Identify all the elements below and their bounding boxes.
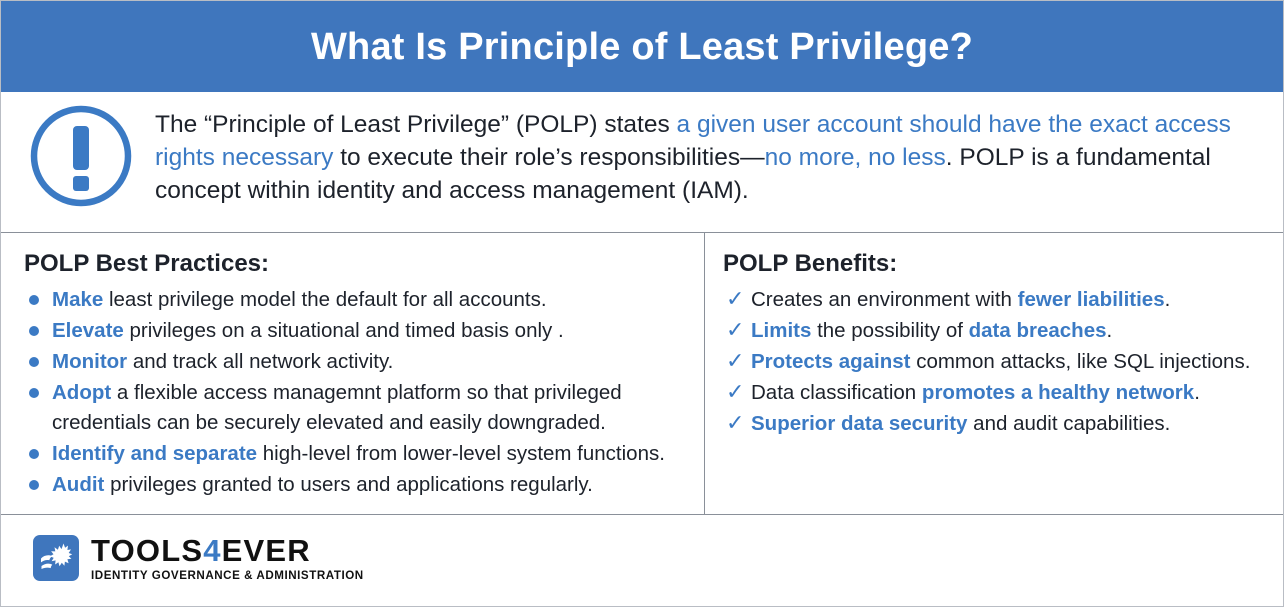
- list-item-highlight: Limits: [751, 319, 811, 342]
- benefits-list: ✓ Creates an environment with fewer liab…: [723, 285, 1265, 439]
- list-item-rest: privileges on a situational and timed ba…: [124, 319, 564, 342]
- list-item: ✓ Data classification promotes a healthy…: [723, 378, 1265, 408]
- list-item: ✓ Limits the possibility of data breache…: [723, 316, 1265, 346]
- benefits-column: POLP Benefits: ✓ Creates an environment …: [705, 233, 1283, 440]
- list-item-rest: a flexible access managemnt platform so …: [52, 381, 622, 434]
- check-icon: ✓: [726, 346, 744, 376]
- list-item-post-2: .: [1107, 319, 1113, 342]
- list-item-highlight: Protects against: [751, 350, 911, 373]
- bullet-dot-icon: [29, 388, 39, 398]
- logo-tagline: IDENTITY GOVERNANCE & ADMINISTRATION: [91, 570, 364, 582]
- list-item: Monitor and track all network activity.: [24, 347, 684, 377]
- list-item-highlight: Superior data security: [751, 412, 967, 435]
- list-item: Identify and separate high-level from lo…: [24, 439, 684, 469]
- infographic-page: What Is Principle of Least Privilege? Th…: [0, 0, 1284, 607]
- logo-wordmark: TOOLS4EVER: [91, 535, 364, 566]
- logo-word-part1: TOOLS: [91, 533, 203, 568]
- list-item: Adopt a flexible access managemnt platfo…: [24, 378, 684, 438]
- intro-segment-4: no more, no less: [765, 144, 946, 171]
- list-item: ✓ Superior data security and audit capab…: [723, 409, 1265, 439]
- best-practices-column: POLP Best Practices: Make least privileg…: [1, 233, 704, 501]
- bullet-dot-icon: [29, 449, 39, 459]
- list-item-rest: least privilege model the default for al…: [103, 288, 546, 311]
- tools4ever-logo[interactable]: TOOLS4EVER IDENTITY GOVERNANCE & ADMINIS…: [33, 535, 364, 582]
- list-item-post: the possibility of: [811, 319, 968, 342]
- list-item: ✓ Protects against common attacks, like …: [723, 347, 1265, 377]
- tools4ever-gear-logo-icon: [33, 535, 79, 581]
- list-item-post: and audit capabilities.: [967, 412, 1170, 435]
- logo-word-four: 4: [203, 533, 221, 568]
- best-practices-title: POLP Best Practices:: [24, 250, 684, 279]
- intro-segment-1: The “Principle of Least Privilege” (POLP…: [155, 111, 677, 138]
- list-item: ✓ Creates an environment with fewer liab…: [723, 285, 1265, 315]
- list-item-lead: Monitor: [52, 350, 127, 373]
- list-item-lead: Identify and separate: [52, 442, 257, 465]
- list-item-post: .: [1165, 288, 1171, 311]
- list-item-post: .: [1194, 381, 1200, 404]
- check-icon: ✓: [726, 377, 744, 407]
- exclamation-circle-icon: [29, 104, 133, 213]
- check-icon: ✓: [726, 284, 744, 314]
- footer-section: TOOLS4EVER IDENTITY GOVERNANCE & ADMINIS…: [1, 515, 1283, 607]
- bullet-dot-icon: [29, 326, 39, 336]
- logo-text-block: TOOLS4EVER IDENTITY GOVERNANCE & ADMINIS…: [91, 535, 364, 582]
- header-banner: What Is Principle of Least Privilege?: [1, 1, 1283, 92]
- list-item-rest: and track all network activity.: [127, 350, 393, 373]
- list-item-rest: high-level from lower-level system funct…: [257, 442, 665, 465]
- bullet-dot-icon: [29, 357, 39, 367]
- list-item-rest: privileges granted to users and applicat…: [104, 473, 592, 496]
- list-item-lead: Make: [52, 288, 103, 311]
- logo-word-part2: EVER: [222, 533, 311, 568]
- list-item: Audit privileges granted to users and ap…: [24, 470, 684, 500]
- list-item: Make least privilege model the default f…: [24, 285, 684, 315]
- list-item-lead: Audit: [52, 473, 104, 496]
- benefits-title: POLP Benefits:: [723, 250, 1265, 279]
- list-item-highlight-2: data breaches: [969, 319, 1107, 342]
- check-icon: ✓: [726, 408, 744, 438]
- intro-paragraph: The “Principle of Least Privilege” (POLP…: [155, 108, 1259, 207]
- check-icon: ✓: [726, 315, 744, 345]
- best-practices-list: Make least privilege model the default f…: [24, 285, 684, 500]
- list-item-lead: Adopt: [52, 381, 111, 404]
- page-title: What Is Principle of Least Privilege?: [311, 28, 973, 66]
- list-item-lead: Elevate: [52, 319, 124, 342]
- list-item-highlight: promotes a healthy network: [922, 381, 1194, 404]
- bullet-dot-icon: [29, 295, 39, 305]
- list-item-highlight: fewer liabilities: [1018, 288, 1165, 311]
- intro-section: The “Principle of Least Privilege” (POLP…: [1, 92, 1283, 232]
- list-item-pre: Creates an environment with: [751, 288, 1018, 311]
- list-item-post: common attacks, like SQL injections.: [911, 350, 1251, 373]
- intro-segment-3: to execute their role’s responsibilities…: [333, 144, 764, 171]
- bullet-dot-icon: [29, 480, 39, 490]
- list-item-pre: Data classification: [751, 381, 922, 404]
- list-item: Elevate privileges on a situational and …: [24, 316, 684, 346]
